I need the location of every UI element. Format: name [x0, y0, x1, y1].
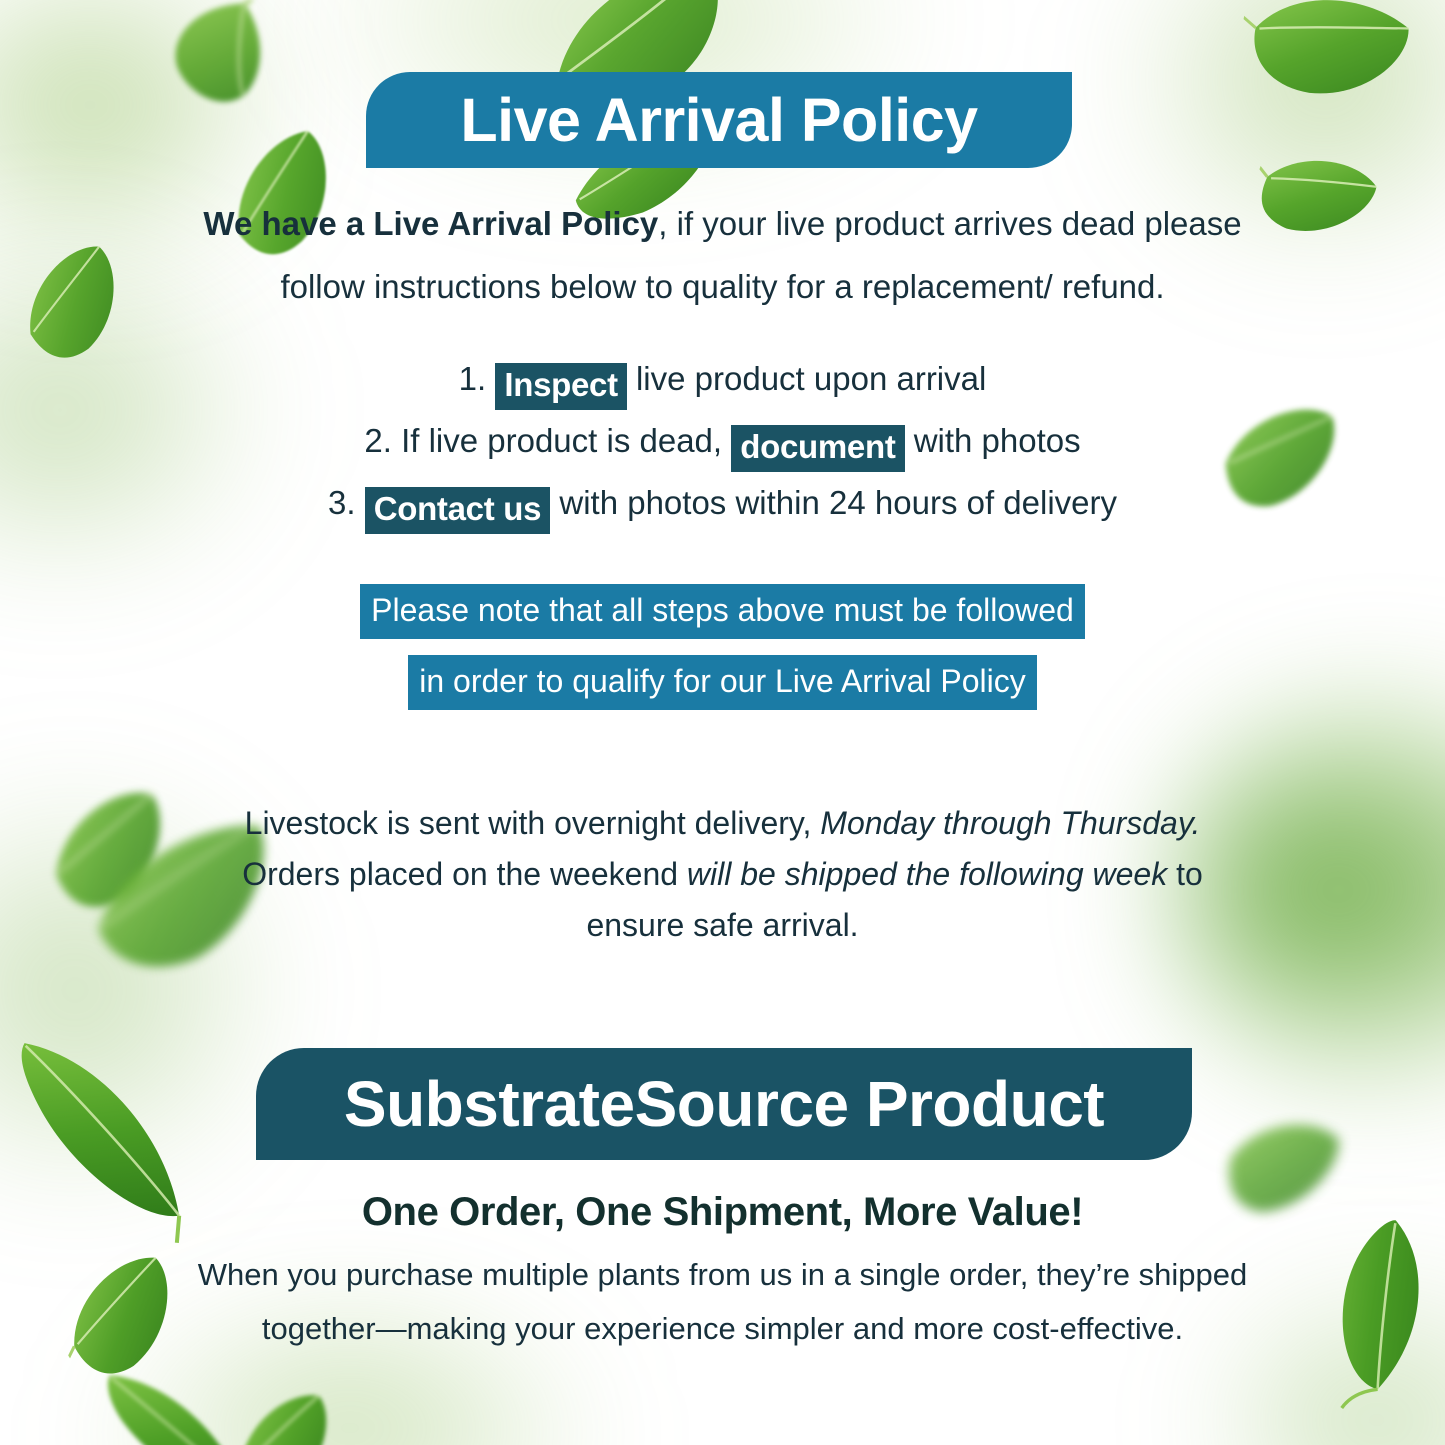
substratesource-product-banner-label: SubstrateSource Product: [344, 1067, 1104, 1141]
shipping-line-2-italic: will be shipped the following week: [687, 856, 1167, 892]
step-2-number: 2.: [364, 422, 392, 459]
intro-bold-text: We have a Live Arrival Policy: [203, 205, 658, 242]
step-2-highlight: document: [731, 425, 904, 472]
product-body-paragraph: When you purchase multiple plants from u…: [175, 1248, 1270, 1356]
live-arrival-policy-banner-label: Live Arrival Policy: [460, 85, 977, 155]
policy-step-2: 2. If live product is dead, document wit…: [180, 410, 1265, 472]
shipping-line-1-plain: Livestock is sent with overnight deliver…: [245, 805, 812, 841]
shipping-line-2-plain: Orders placed on the weekend: [242, 856, 678, 892]
step-1-number: 1.: [459, 360, 487, 397]
policy-note-line-2: in order to qualify for our Live Arrival…: [408, 655, 1036, 710]
step-2-after: with photos: [914, 422, 1081, 459]
policy-steps-list: 1. Inspect live product upon arrival 2. …: [180, 348, 1265, 534]
policy-note-block: Please note that all steps above must be…: [0, 584, 1445, 710]
step-3-after: with photos within 24 hours of delivery: [559, 484, 1117, 521]
policy-step-3: 3. Contact us with photos within 24 hour…: [180, 472, 1265, 534]
policy-note-line-1: Please note that all steps above must be…: [360, 584, 1085, 639]
live-arrival-policy-graphic: Live Arrival Policy We have a Live Arriv…: [0, 0, 1445, 1445]
shipping-line-1-italic: Monday through Thursday.: [820, 805, 1200, 841]
step-3-number: 3.: [328, 484, 356, 521]
step-2-before: If live product is dead,: [401, 422, 722, 459]
step-3-highlight: Contact us: [365, 487, 551, 534]
shipping-schedule-paragraph: Livestock is sent with overnight deliver…: [215, 798, 1230, 951]
product-subheading: One Order, One Shipment, More Value!: [0, 1190, 1445, 1235]
substratesource-product-banner: SubstrateSource Product: [256, 1048, 1192, 1160]
intro-paragraph: We have a Live Arrival Policy, if your l…: [170, 192, 1275, 318]
step-1-after: live product upon arrival: [636, 360, 986, 397]
policy-step-1: 1. Inspect live product upon arrival: [180, 348, 1265, 410]
step-1-highlight: Inspect: [495, 363, 626, 410]
live-arrival-policy-banner: Live Arrival Policy: [366, 72, 1072, 168]
